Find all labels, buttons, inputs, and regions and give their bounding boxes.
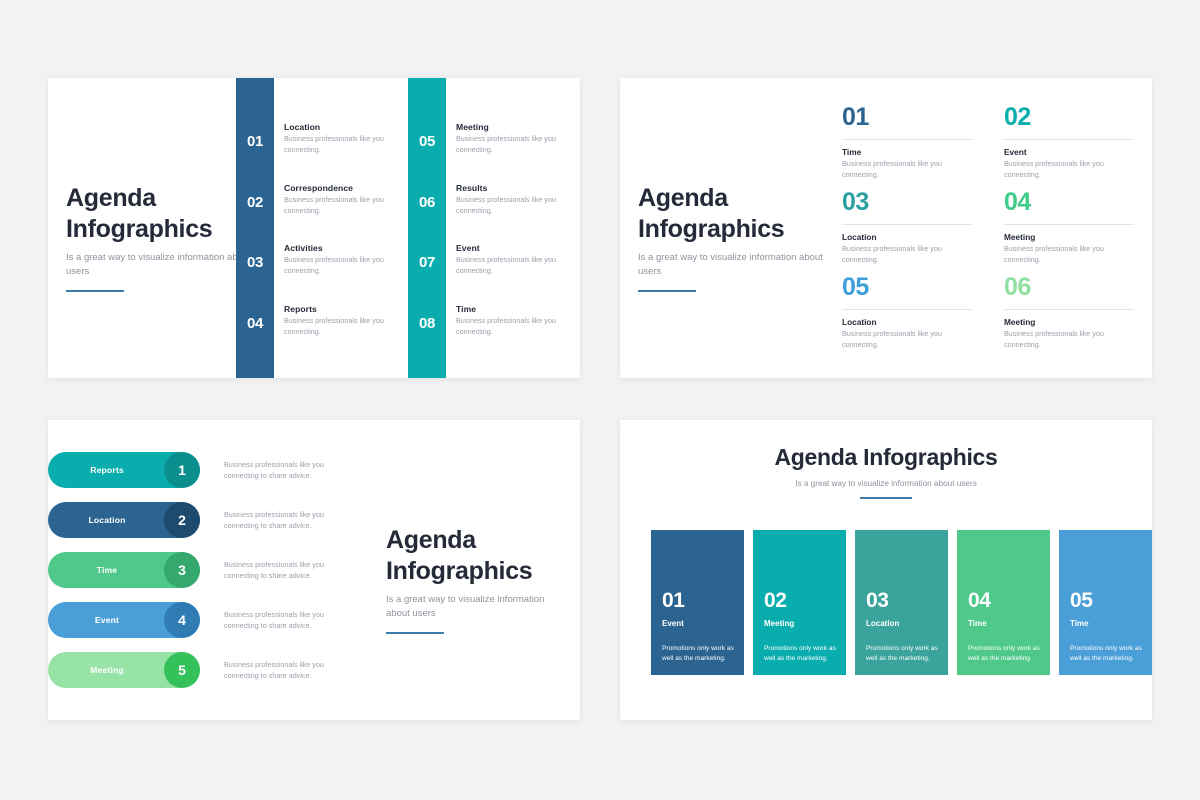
agenda-cell-body: Business professionals like you connecti… [842, 329, 972, 351]
page-title: Agenda Infographics [620, 444, 1152, 471]
divider [842, 224, 972, 225]
accent-rule [860, 497, 912, 499]
agenda-item-number: 03 [236, 243, 274, 271]
title-line-2: Infographics [386, 556, 566, 587]
pill-step-badge: 4 [164, 602, 200, 638]
column-card-body: Promotions only work as well as the mark… [866, 644, 940, 664]
agenda-cell[interactable]: 04MeetingBusiness professionals like you… [1004, 190, 1134, 266]
agenda-item-number: 04 [236, 304, 274, 332]
agenda-cell-heading: Time [842, 147, 972, 157]
column-card-container: 01EventPromotions only work as well as t… [651, 530, 1152, 675]
agenda-cell-body: Business professionals like you connecti… [1004, 159, 1134, 181]
page-subtitle: Is a great way to visualize information … [386, 593, 566, 621]
agenda-item-heading: Reports [284, 304, 398, 314]
agenda-column-right: 05MeetingBusiness professionals like you… [408, 78, 578, 378]
agenda-cell-body: Business professionals like you connecti… [1004, 244, 1134, 266]
pill-description: Business professionals like you connecti… [224, 559, 352, 581]
agenda-column-left: 01LocationBusiness professionals like yo… [236, 78, 406, 378]
panel1-title-block: Agenda Infographics Is a great way to vi… [66, 183, 256, 292]
agenda-item-number: 02 [236, 183, 274, 211]
agenda-cell[interactable]: 06MeetingBusiness professionals like you… [1004, 275, 1134, 351]
agenda-item[interactable]: 02CorrespondenceBusiness professionals l… [236, 183, 406, 216]
pill-shape[interactable]: Reports1 [48, 452, 200, 488]
pill-shape[interactable]: Time3 [48, 552, 200, 588]
column-card-body: Promotions only work as well as the mark… [1070, 644, 1144, 664]
divider [842, 309, 972, 310]
accent-rule [386, 632, 444, 634]
agenda-item[interactable]: 06ResultsBusiness professionals like you… [408, 183, 578, 216]
pill-row[interactable]: Location2Business professionals like you… [48, 502, 352, 538]
agenda-item-text: LocationBusiness professionals like you … [274, 122, 406, 155]
pill-description: Business professionals like you connecti… [224, 509, 352, 531]
pill-shape[interactable]: Location2 [48, 502, 200, 538]
agenda-item[interactable]: 03ActivitiesBusiness professionals like … [236, 243, 406, 276]
pill-label: Time [97, 565, 118, 575]
slide-deck-canvas: Agenda Infographics Is a great way to vi… [0, 0, 1200, 800]
pill-label: Event [95, 615, 119, 625]
pill-label: Meeting [90, 665, 124, 675]
agenda-item-text: EventBusiness professionals like you con… [446, 243, 578, 276]
agenda-item-body: Business professionals like you connecti… [456, 255, 570, 276]
title-line-1: Agenda [66, 183, 256, 214]
column-card-heading: Time [1070, 619, 1089, 628]
panel-pill-list[interactable]: Agenda Infographics Is a great way to vi… [48, 420, 580, 720]
pill-shape[interactable]: Meeting5 [48, 652, 200, 688]
column-card[interactable]: 02MeetingPromotions only work as well as… [753, 530, 846, 675]
title-line-2: Infographics [638, 214, 828, 245]
page-title: Agenda Infographics [386, 525, 566, 586]
agenda-item-body: Business professionals like you connecti… [456, 134, 570, 155]
column-card-number: 02 [764, 589, 787, 613]
page-subtitle: Is a great way to visualize information … [620, 479, 1152, 488]
agenda-cell-heading: Location [842, 232, 972, 242]
column-card-body: Promotions only work as well as the mark… [968, 644, 1042, 664]
agenda-cell-heading: Event [1004, 147, 1134, 157]
panel4-title-block: Agenda Infographics Is a great way to vi… [620, 444, 1152, 499]
page-title: Agenda Infographics [638, 183, 828, 244]
pill-step-badge: 3 [164, 552, 200, 588]
pill-row[interactable]: Time3Business professionals like you con… [48, 552, 352, 588]
agenda-item[interactable]: 07EventBusiness professionals like you c… [408, 243, 578, 276]
column-card-number: 05 [1070, 589, 1093, 613]
agenda-cell-number: 04 [1004, 190, 1134, 215]
agenda-item-heading: Correspondence [284, 183, 398, 193]
pill-shape[interactable]: Event4 [48, 602, 200, 638]
column-card[interactable]: 01EventPromotions only work as well as t… [651, 530, 744, 675]
agenda-cell-number: 02 [1004, 105, 1134, 130]
agenda-item-body: Business professionals like you connecti… [456, 316, 570, 337]
pill-description: Business professionals like you connecti… [224, 609, 352, 631]
agenda-item-number: 01 [236, 122, 274, 150]
agenda-item-number: 07 [408, 243, 446, 271]
agenda-item-number: 06 [408, 183, 446, 211]
agenda-cell-body: Business professionals like you connecti… [1004, 329, 1134, 351]
agenda-cell-heading: Meeting [1004, 317, 1134, 327]
column-card[interactable]: 04TimePromotions only work as well as th… [957, 530, 1050, 675]
page-subtitle: Is a great way to visualize information … [638, 251, 828, 279]
page-subtitle: Is a great way to visualize information … [66, 251, 256, 279]
agenda-item-heading: Results [456, 183, 570, 193]
agenda-cell[interactable]: 02EventBusiness professionals like you c… [1004, 105, 1134, 181]
title-line-1: Agenda [386, 525, 566, 556]
agenda-item-body: Business professionals like you connecti… [284, 255, 398, 276]
pill-row[interactable]: Reports1Business professionals like you … [48, 452, 352, 488]
column-card-body: Promotions only work as well as the mark… [662, 644, 736, 664]
column-card[interactable]: 03LocationPromotions only work as well a… [855, 530, 948, 675]
agenda-cell-body: Business professionals like you connecti… [842, 159, 972, 181]
agenda-item-number: 05 [408, 122, 446, 150]
agenda-cell[interactable]: 05LocationBusiness professionals like yo… [842, 275, 972, 351]
column-card-body: Promotions only work as well as the mark… [764, 644, 838, 664]
agenda-cell-body: Business professionals like you connecti… [842, 244, 972, 266]
agenda-item-text: MeetingBusiness professionals like you c… [446, 122, 578, 155]
column-card-number: 04 [968, 589, 991, 613]
agenda-item[interactable]: 08TimeBusiness professionals like you co… [408, 304, 578, 337]
pill-step-badge: 1 [164, 452, 200, 488]
agenda-item-text: CorrespondenceBusiness professionals lik… [274, 183, 406, 216]
agenda-item-heading: Meeting [456, 122, 570, 132]
agenda-item-body: Business professionals like you connecti… [456, 195, 570, 216]
pill-label: Reports [90, 465, 124, 475]
column-card-heading: Event [662, 619, 684, 628]
panel-six-cell-grid[interactable]: Agenda Infographics Is a great way to vi… [620, 78, 1152, 378]
agenda-item[interactable]: 04ReportsBusiness professionals like you… [236, 304, 406, 337]
column-card-number: 03 [866, 589, 889, 613]
divider [1004, 309, 1134, 310]
agenda-item-heading: Activities [284, 243, 398, 253]
column-card[interactable]: 05TimePromotions only work as well as th… [1059, 530, 1152, 675]
accent-rule [638, 290, 696, 292]
column-card-heading: Location [866, 619, 899, 628]
agenda-cell-number: 05 [842, 275, 972, 300]
panel3-title-block: Agenda Infographics Is a great way to vi… [386, 525, 566, 634]
pill-step-badge: 2 [164, 502, 200, 538]
agenda-item-text: ActivitiesBusiness professionals like yo… [274, 243, 406, 276]
pill-row[interactable]: Meeting5Business professionals like you … [48, 652, 352, 688]
title-line-2: Infographics [66, 214, 256, 245]
agenda-item-body: Business professionals like you connecti… [284, 316, 398, 337]
pill-label: Location [88, 515, 125, 525]
agenda-item-heading: Time [456, 304, 570, 314]
agenda-item-text: ResultsBusiness professionals like you c… [446, 183, 578, 216]
agenda-item-body: Business professionals like you connecti… [284, 134, 398, 155]
agenda-cell-heading: Location [842, 317, 972, 327]
divider [842, 139, 972, 140]
divider [1004, 224, 1134, 225]
divider [1004, 139, 1134, 140]
agenda-cell-heading: Meeting [1004, 232, 1134, 242]
accent-rule [66, 290, 124, 292]
agenda-cell-number: 01 [842, 105, 972, 130]
pill-row[interactable]: Event4Business professionals like you co… [48, 602, 352, 638]
title-line-1: Agenda [638, 183, 828, 214]
pill-description: Business professionals like you connecti… [224, 459, 352, 481]
agenda-item-heading: Location [284, 122, 398, 132]
column-card-heading: Time [968, 619, 987, 628]
column-card-heading: Meeting [764, 619, 794, 628]
panel-five-columns[interactable]: Agenda Infographics Is a great way to vi… [620, 420, 1152, 720]
panel2-title-block: Agenda Infographics Is a great way to vi… [638, 183, 828, 292]
agenda-cell[interactable]: 01TimeBusiness professionals like you co… [842, 105, 972, 181]
agenda-item-heading: Event [456, 243, 570, 253]
pill-description: Business professionals like you connecti… [224, 659, 352, 681]
agenda-item-text: TimeBusiness professionals like you conn… [446, 304, 578, 337]
agenda-cell-number: 06 [1004, 275, 1134, 300]
agenda-cell-number: 03 [842, 190, 972, 215]
agenda-cell[interactable]: 03LocationBusiness professionals like yo… [842, 190, 972, 266]
pill-step-badge: 5 [164, 652, 200, 688]
column-card-number: 01 [662, 589, 685, 613]
panel-two-column-bars[interactable]: Agenda Infographics Is a great way to vi… [48, 78, 580, 378]
agenda-item-text: ReportsBusiness professionals like you c… [274, 304, 406, 337]
agenda-item[interactable]: 01LocationBusiness professionals like yo… [236, 122, 406, 155]
page-title: Agenda Infographics [66, 183, 256, 244]
agenda-item[interactable]: 05MeetingBusiness professionals like you… [408, 122, 578, 155]
agenda-item-body: Business professionals like you connecti… [284, 195, 398, 216]
agenda-item-number: 08 [408, 304, 446, 332]
